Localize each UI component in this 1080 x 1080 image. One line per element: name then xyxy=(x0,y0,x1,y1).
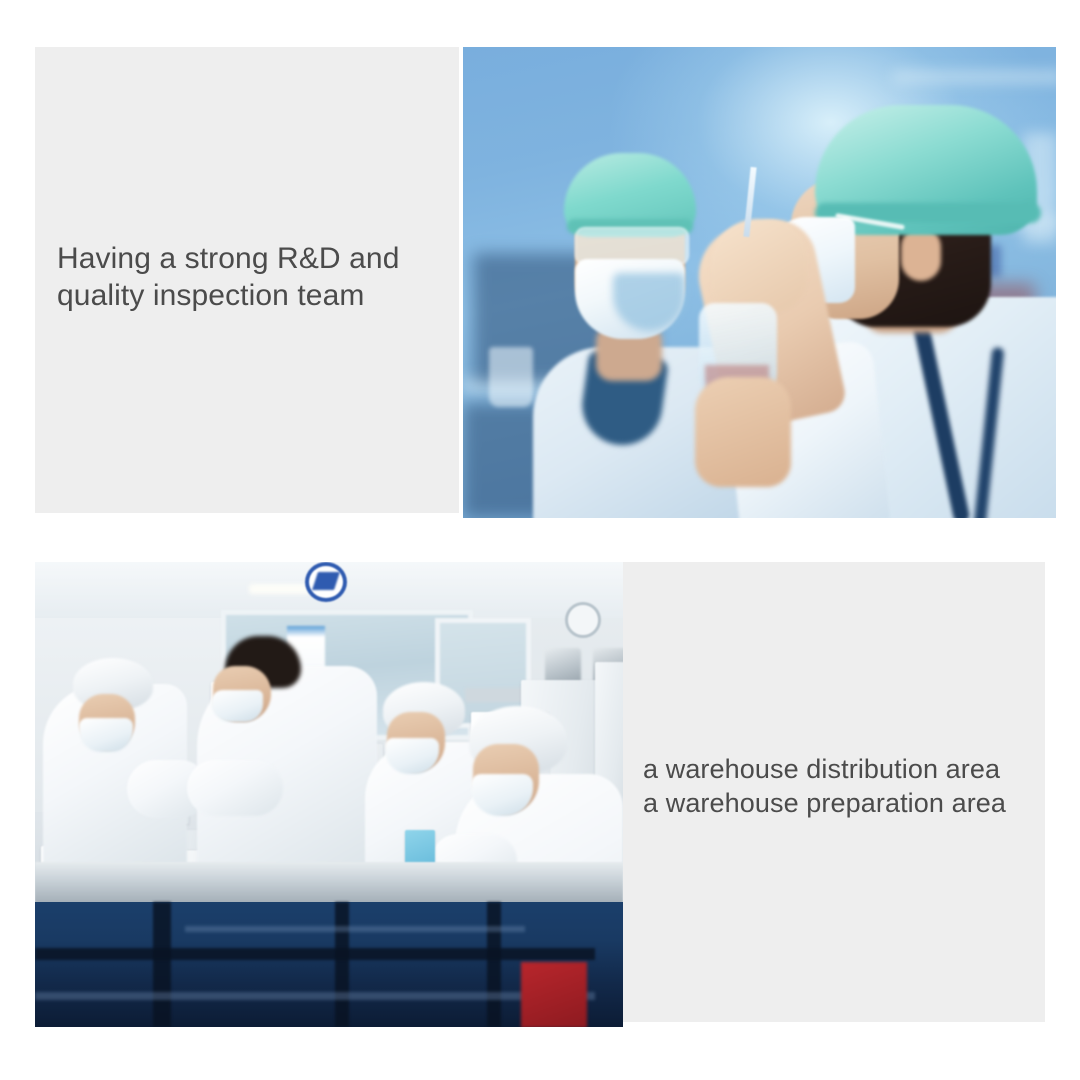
steel-tabletop xyxy=(35,862,623,906)
table-leg-3 xyxy=(487,902,501,1027)
warehouse-caption: a warehouse distribution area a warehous… xyxy=(643,752,1006,820)
packer-a-mask xyxy=(79,718,133,752)
packer-d-red-apron xyxy=(521,962,587,1027)
table-shelf-edge xyxy=(185,926,525,932)
table-leg-1 xyxy=(153,902,171,1027)
wall-clock-icon xyxy=(565,602,601,638)
lab-inspection-photo xyxy=(463,47,1056,518)
table-cross-rail xyxy=(35,948,595,960)
packer-b-arm xyxy=(187,760,283,816)
rd-team-caption: Having a strong R&D and quality inspecti… xyxy=(57,240,399,314)
page-root: Having a strong R&D and quality inspecti… xyxy=(0,0,1080,1080)
table-leg-2 xyxy=(335,902,349,1027)
warehouse-packing-photo xyxy=(35,562,623,1027)
lab-shelf-top xyxy=(893,71,1056,83)
lab-beaker xyxy=(489,347,533,407)
ceiling-light-1 xyxy=(249,584,313,594)
worker2-upper-hand xyxy=(711,219,807,313)
packer-b-mask xyxy=(211,690,263,722)
table-rail-highlight xyxy=(35,992,595,1000)
worker2-lower-hand xyxy=(695,377,791,487)
worker2-ear xyxy=(901,227,941,281)
